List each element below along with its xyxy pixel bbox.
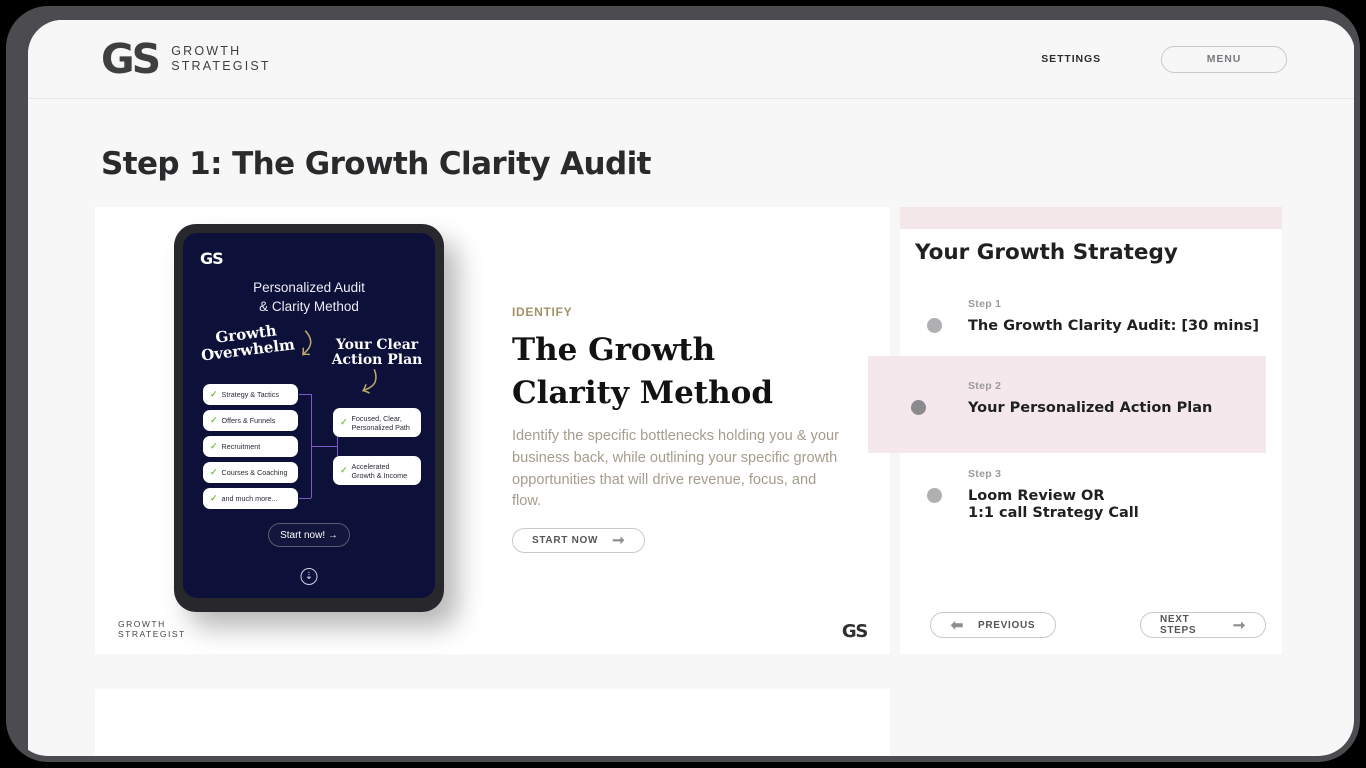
panel-top-accent-strip bbox=[900, 207, 1282, 229]
tablet-right-label: Your Clear Action Plan bbox=[325, 338, 429, 368]
connector-line bbox=[311, 446, 337, 447]
step-dot-icon bbox=[927, 318, 942, 333]
next-steps-label: NEXT STEPS bbox=[1160, 614, 1219, 636]
step-item-2[interactable]: Step 2 Your Personalized Action Plan bbox=[868, 356, 1266, 453]
brand-wordmark: GROWTH STRATEGIST bbox=[171, 44, 271, 74]
tablet-body: GS Personalized Audit & Clarity Method G… bbox=[174, 224, 444, 612]
device-bezel: GS GROWTH STRATEGIST SETTINGS MENU Step … bbox=[6, 6, 1360, 762]
check-icon: ✓ bbox=[340, 466, 348, 475]
hero-description: Identify the specific bottlenecks holdin… bbox=[512, 426, 842, 513]
step-2-kicker: Step 2 bbox=[968, 380, 1266, 392]
top-nav-actions: SETTINGS MENU bbox=[1041, 46, 1287, 73]
gs-logo-icon: GS bbox=[101, 39, 158, 80]
tablet-chip-right-1: ✓ Focused, Clear, Personalized Path bbox=[333, 408, 421, 437]
arrow-left-icon: ⬅ bbox=[951, 618, 964, 633]
arrow-right-icon: ➞ bbox=[612, 533, 625, 548]
tablet-screen: GS Personalized Audit & Clarity Method G… bbox=[183, 233, 435, 598]
step-3-kicker: Step 3 bbox=[968, 468, 1282, 480]
tablet-gs-logo-icon: GS bbox=[200, 249, 223, 268]
connector-line bbox=[299, 394, 311, 395]
hero-footer-gs-logo-icon: GS bbox=[842, 621, 867, 642]
curved-arrow-right-icon: ⤵ bbox=[351, 366, 389, 398]
previous-button[interactable]: ⬅ PREVIOUS bbox=[930, 612, 1056, 638]
tablet-title-line-2: & Clarity Method bbox=[183, 297, 435, 316]
start-now-button[interactable]: START NOW ➞ bbox=[512, 528, 645, 553]
next-steps-button[interactable]: NEXT STEPS ➞ bbox=[1140, 612, 1266, 638]
tablet-chip-right-2-label: Accelerated Growth & Income bbox=[352, 462, 408, 480]
hero-heading-line-2: Clarity Method bbox=[512, 372, 842, 415]
tablet-chip-left-1-label: Strategy & Tactics bbox=[222, 390, 279, 399]
download-icon[interactable]: ⇣ bbox=[301, 568, 318, 585]
arrow-right-icon: ➞ bbox=[1233, 618, 1246, 633]
tablet-chip-left-4: ✓ Courses & Coaching bbox=[203, 462, 298, 483]
tablet-chip-left-2-label: Offers & Funnels bbox=[222, 416, 276, 425]
check-icon: ✓ bbox=[210, 494, 218, 503]
steps-list: Step 1 The Growth Clarity Audit: [30 min… bbox=[884, 283, 1282, 536]
tablet-start-now-button[interactable]: Start now! → bbox=[268, 523, 350, 547]
lower-content-card: A clear, actionable & personalized growt… bbox=[95, 689, 890, 762]
step-3-label: Loom Review OR 1:1 call Strategy Call bbox=[968, 488, 1282, 521]
brand-line-1: GROWTH bbox=[171, 44, 271, 59]
previous-label: PREVIOUS bbox=[978, 620, 1035, 631]
connector-line bbox=[299, 498, 311, 499]
tablet-left-label: Growth Overwhelm bbox=[193, 320, 300, 364]
tablet-chip-left-3: ✓ Recruitment bbox=[203, 436, 298, 457]
step-dot-icon bbox=[911, 400, 926, 415]
check-icon: ✓ bbox=[210, 442, 218, 451]
brand-logo[interactable]: GS GROWTH STRATEGIST bbox=[101, 39, 271, 80]
tablet-chip-left-1: ✓ Strategy & Tactics bbox=[203, 384, 298, 405]
hero-footer-brand-line-2: STRATEGIST bbox=[118, 629, 186, 639]
step-dot-icon bbox=[927, 488, 942, 503]
start-now-label: START NOW bbox=[532, 535, 598, 546]
step-2-label: Your Personalized Action Plan bbox=[968, 400, 1266, 417]
growth-strategy-panel: Your Growth Strategy Step 1 The Growth C… bbox=[884, 207, 1282, 654]
tablet-chip-right-1-label: Focused, Clear, Personalized Path bbox=[352, 414, 410, 432]
tablet-chip-left-5-label: and much more... bbox=[222, 494, 278, 503]
step-item-3[interactable]: Step 3 Loom Review OR 1:1 call Strategy … bbox=[884, 453, 1282, 536]
brand-line-2: STRATEGIST bbox=[171, 59, 271, 74]
step-1-kicker: Step 1 bbox=[968, 298, 1282, 310]
hero-heading-line-1: The Growth bbox=[512, 329, 842, 372]
settings-link[interactable]: SETTINGS bbox=[1041, 53, 1101, 65]
app-screen: GS GROWTH STRATEGIST SETTINGS MENU Step … bbox=[28, 20, 1355, 762]
tablet-chip-left-5: ✓ and much more... bbox=[203, 488, 298, 509]
hero-heading: The Growth Clarity Method bbox=[512, 329, 842, 415]
tablet-title: Personalized Audit & Clarity Method bbox=[183, 278, 435, 316]
hero-footer-brand: GROWTH STRATEGIST bbox=[118, 619, 186, 639]
step-1-label: The Growth Clarity Audit: [30 mins] bbox=[968, 318, 1282, 335]
tablet-chip-left-4-label: Courses & Coaching bbox=[222, 468, 288, 477]
tablet-chip-left-3-label: Recruitment bbox=[222, 442, 261, 451]
check-icon: ✓ bbox=[210, 390, 218, 399]
menu-button[interactable]: MENU bbox=[1161, 46, 1287, 73]
panel-title: Your Growth Strategy bbox=[915, 240, 1178, 265]
tablet-chip-right-2: ✓ Accelerated Growth & Income bbox=[333, 456, 421, 485]
check-icon: ✓ bbox=[210, 468, 218, 477]
check-icon: ✓ bbox=[210, 416, 218, 425]
hero-footer-brand-line-1: GROWTH bbox=[118, 619, 186, 629]
step-item-1[interactable]: Step 1 The Growth Clarity Audit: [30 min… bbox=[884, 283, 1282, 356]
tablet-chip-left-2: ✓ Offers & Funnels bbox=[203, 410, 298, 431]
tablet-mockup: GS Personalized Audit & Clarity Method G… bbox=[174, 224, 444, 612]
hero-card: GS Personalized Audit & Clarity Method G… bbox=[95, 207, 890, 654]
panel-navigation: ⬅ PREVIOUS NEXT STEPS ➞ bbox=[900, 612, 1282, 638]
hero-text-block: IDENTIFY The Growth Clarity Method Ident… bbox=[512, 305, 842, 553]
hero-eyebrow: IDENTIFY bbox=[512, 305, 842, 319]
top-navigation-bar: GS GROWTH STRATEGIST SETTINGS MENU bbox=[28, 20, 1355, 99]
tablet-title-line-1: Personalized Audit bbox=[183, 278, 435, 297]
page-title: Step 1: The Growth Clarity Audit bbox=[101, 146, 651, 182]
check-icon: ✓ bbox=[340, 418, 348, 427]
